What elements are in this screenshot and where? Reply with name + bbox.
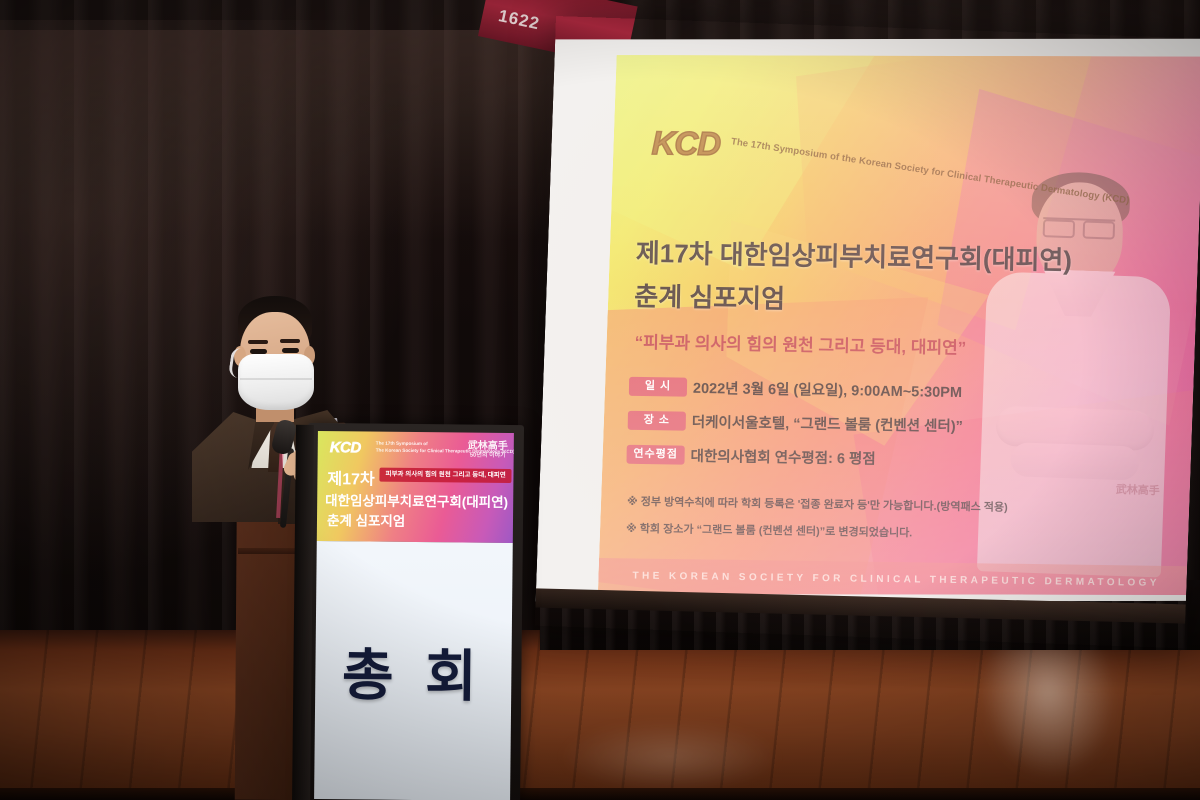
overhead-banner-text: 1622 (497, 6, 542, 34)
signage-kcd-logo: KCD (330, 439, 361, 456)
signage-session-section: 총 회 (314, 541, 513, 800)
slide-subtitle: “피부과 의사의 힘의 원천 그리고 등대, 대피연” (635, 328, 967, 359)
speaker-eye (282, 348, 299, 353)
signage-edition-number: 제17차 (327, 465, 374, 489)
kcd-logo: KCD (651, 124, 720, 163)
info-tag-credits: 연수평점 (626, 445, 684, 465)
stage-floor-edge (0, 788, 1200, 800)
signage-session-label: 총 회 (342, 630, 485, 712)
stage-photo: 1622 엄 (0, 0, 1200, 800)
projection-screen-surface: 武林高手 KCD The 17th Symposium of the Korea… (536, 16, 1200, 624)
info-tag-date: 일 시 (629, 377, 687, 397)
signage-calligraphy-sub: 50년의 이야기 (468, 453, 508, 461)
info-value-venue: 더케이서울호텔, “그랜드 볼룸 (컨벤션 센터)” (692, 411, 963, 436)
signage-title-line1: 대한임상피부치료연구회(대피연) (325, 489, 508, 511)
eyeglasses-icon (1043, 217, 1116, 237)
slide-footer-text: THE KOREAN SOCIETY FOR CLINICAL THERAPEU… (632, 570, 1159, 588)
digital-signage-display: KCD The 17th Symposium of The Korean Soc… (314, 431, 514, 800)
slide-info-rows: 일 시 2022년 3월 6일 (일요일), 9:00AM~5:30PM 장 소… (626, 373, 1049, 490)
signage-banner-section: KCD The 17th Symposium of The Korean Soc… (317, 431, 514, 543)
speaker-eyebrow (280, 339, 300, 343)
signage-ribbon-text: 피부과 의사의 힘의 원천 그리고 등대, 대피연 (379, 468, 511, 483)
info-tag-venue: 장 소 (628, 411, 686, 431)
info-value-credits: 대한의사협회 연수평점: 6 평점 (690, 445, 875, 469)
portrait-signature-main: 武林高手 (1116, 484, 1160, 498)
projection-screen: 武林高手 KCD The 17th Symposium of the Korea… (535, 16, 1200, 648)
presentation-slide: 武林高手 KCD The 17th Symposium of the Korea… (598, 36, 1200, 614)
slide-title-line2: 춘계 심포지엄 (634, 276, 785, 316)
signage-title-line2: 춘계 심포지엄 (327, 509, 405, 530)
floor-reflection (560, 722, 780, 792)
signage-calligraphy: 武林高手 50년의 이야기 (468, 441, 508, 461)
signage-calligraphy-main: 武林高手 (468, 441, 508, 452)
curtain-top-band (0, 30, 620, 240)
speaker-eyebrow (248, 340, 268, 344)
slide-info-row: 연수평점 대한의사협회 연수평점: 6 평점 (626, 445, 1046, 486)
face-mask-fold (240, 378, 312, 380)
portrait-signature: 武林高手 (1116, 484, 1160, 498)
slide-notes: ※ 정부 방역수칙에 따라 학회 등록은 '접종 완료자 등'만 가능합니다.(… (626, 489, 1058, 558)
slide-note: ※ 학회 장소가 “그랜드 볼룸 (컨벤션 센터)”로 변경되었습니다. (626, 520, 1056, 554)
info-value-date: 2022년 3월 6일 (일요일), 9:00AM~5:30PM (693, 377, 962, 402)
slide-title-line1: 제17차 대한임상피부치료연구회(대피연) (636, 233, 1073, 278)
face-mask-icon (238, 354, 314, 410)
